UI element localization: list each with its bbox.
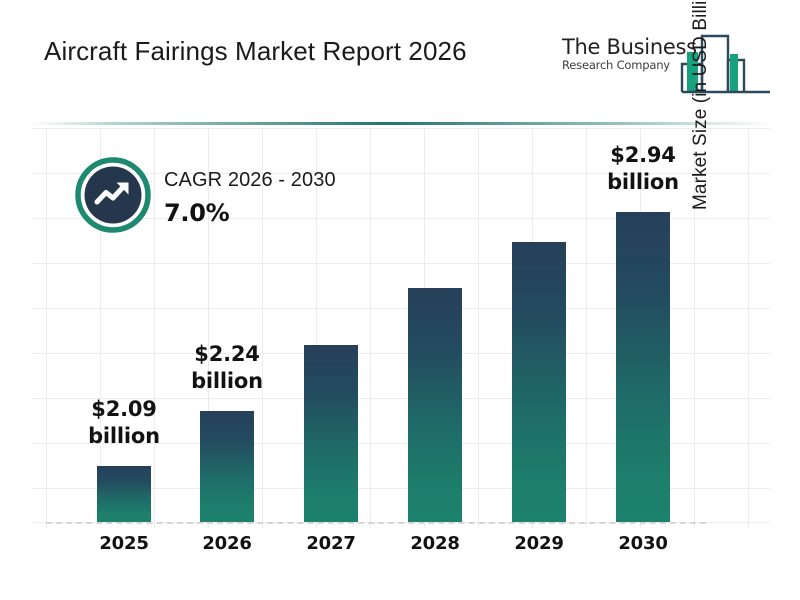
value-label-amount: $2.09 <box>74 396 174 423</box>
gridline-v <box>748 128 749 528</box>
bar-2030[interactable] <box>616 212 670 522</box>
bar-2025[interactable] <box>97 466 151 522</box>
bar-value-label-2026: $2.24 billion <box>177 341 277 395</box>
chart-baseline <box>46 522 706 524</box>
bar-2027[interactable] <box>304 345 358 522</box>
value-label-unit: billion <box>593 169 693 196</box>
cagr-text-block: CAGR 2026 - 2030 7.0% <box>164 168 444 227</box>
y-axis-title: Market Size (in USD Billion) <box>690 0 712 210</box>
category-label-2030: 2030 <box>593 533 693 554</box>
bar-fill <box>616 212 670 522</box>
bar-fill <box>97 466 151 522</box>
bar-2029[interactable] <box>512 242 566 522</box>
cagr-value-label: 7.0% <box>164 199 444 227</box>
bar-2026[interactable] <box>200 411 254 522</box>
value-label-unit: billion <box>177 368 277 395</box>
bar-fill <box>304 345 358 522</box>
value-label-amount: $2.24 <box>177 341 277 368</box>
category-label-2027: 2027 <box>281 533 381 554</box>
cagr-badge-icon <box>75 157 151 233</box>
category-label-2029: 2029 <box>489 533 589 554</box>
bar-2028[interactable] <box>408 288 462 522</box>
slide-root: Aircraft Fairings Market Report 2026 The… <box>0 0 800 600</box>
category-label-2026: 2026 <box>177 533 277 554</box>
cagr-period-label: CAGR 2026 - 2030 <box>164 168 444 192</box>
bar-fill <box>512 242 566 522</box>
value-label-amount: $2.94 <box>593 142 693 169</box>
bar-value-label-2030: $2.94 billion <box>593 142 693 196</box>
bar-series: $2.09 billion 2025 $2.24 billion 2026 20… <box>0 0 738 600</box>
bar-fill <box>200 411 254 522</box>
value-label-unit: billion <box>74 423 174 450</box>
bar-value-label-2025: $2.09 billion <box>74 396 174 450</box>
category-label-2028: 2028 <box>385 533 485 554</box>
category-label-2025: 2025 <box>74 533 174 554</box>
bar-fill <box>408 288 462 522</box>
